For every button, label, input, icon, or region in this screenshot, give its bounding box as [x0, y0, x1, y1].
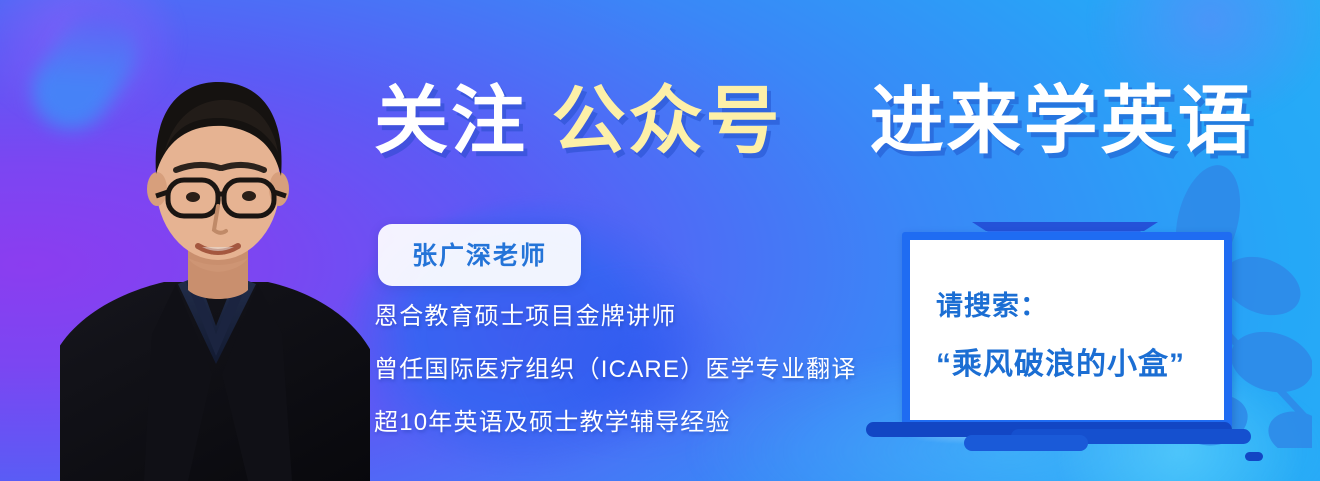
page-title: 关注 公众号 进来学英语 [374, 84, 1255, 158]
laptop-lid: 请搜索： “乘风破浪的小盒” [902, 232, 1232, 428]
credential-item: 恩合教育硕士项目金牌讲师 [374, 296, 857, 331]
laptop-base-notch [964, 435, 1088, 451]
laptop-screen-text: 请搜索： “乘风破浪的小盒” [936, 284, 1185, 383]
search-keyword-label: “乘风破浪的小盒” [936, 339, 1185, 383]
promo-banner: 关注 公众号 进来学英语 张广深老师 恩合教育硕士项目金牌讲师 曾任国际医疗组织… [0, 0, 1320, 481]
credential-list: 恩合教育硕士项目金牌讲师 曾任国际医疗组织（ICARE）医学专业翻译 超10年英… [374, 296, 857, 437]
presenter-photo [60, 34, 370, 481]
credential-item: 超10年英语及硕士教学辅导经验 [374, 402, 857, 437]
presenter-name-badge: 张广深老师 [378, 224, 581, 286]
headline-part-3: 进来学英语 [870, 79, 1255, 162]
laptop-lid-notch [972, 222, 1158, 231]
credential-item: 曾任国际医疗组织（ICARE）医学专业翻译 [374, 349, 857, 384]
laptop-screen: 请搜索： “乘风破浪的小盒” [910, 240, 1224, 420]
headline-part-2: 公众号 [552, 79, 783, 162]
decorative-dot [1245, 452, 1263, 461]
headline-part-1: 关注 [374, 79, 528, 162]
search-prompt-label: 请搜索： [936, 284, 1185, 323]
laptop-illustration: 请搜索： “乘风破浪的小盒” [866, 222, 1266, 452]
